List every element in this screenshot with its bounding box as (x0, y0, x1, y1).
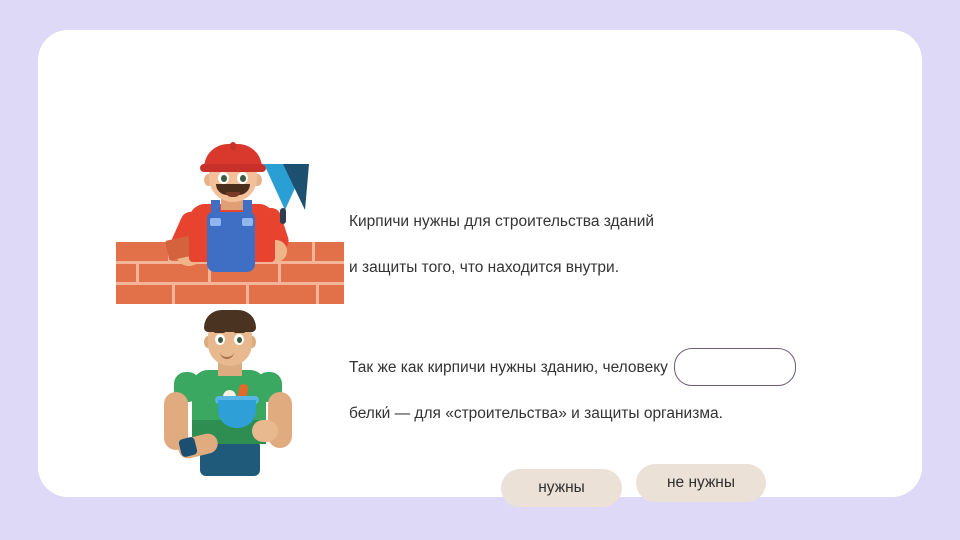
athlete-hair (204, 310, 256, 332)
answer-chip-ne-nuzhny[interactable]: не нужны (636, 464, 766, 502)
exercise-card: Кирпичи нужны для строительства зданий и… (38, 30, 922, 497)
answer-dropzone[interactable] (674, 348, 796, 386)
athlete-illustration (160, 308, 296, 478)
builder-illustration (116, 142, 344, 310)
paragraph-one-line-two: и защиты того, что находится внутри. (349, 245, 654, 291)
paragraph-two-line-one: Так же как кирпичи нужны зданию, человек… (349, 345, 796, 391)
paragraph-one-line-one: Кирпичи нужны для строительства зданий (349, 199, 654, 245)
screen: Кирпичи нужны для строительства зданий и… (0, 0, 960, 540)
paragraph-one: Кирпичи нужны для строительства зданий и… (349, 199, 654, 291)
paragraph-two-text-before-blank: Так же как кирпичи нужны зданию, человек… (349, 359, 668, 376)
answer-chip-nuzhny[interactable]: нужны (501, 469, 622, 507)
paragraph-two: Так же как кирпичи нужны зданию, человек… (349, 345, 796, 437)
paragraph-two-line-two: белки́ — для «строительства» и защиты ор… (349, 391, 796, 437)
trowel-icon (264, 164, 308, 226)
athlete-hand (252, 420, 278, 442)
